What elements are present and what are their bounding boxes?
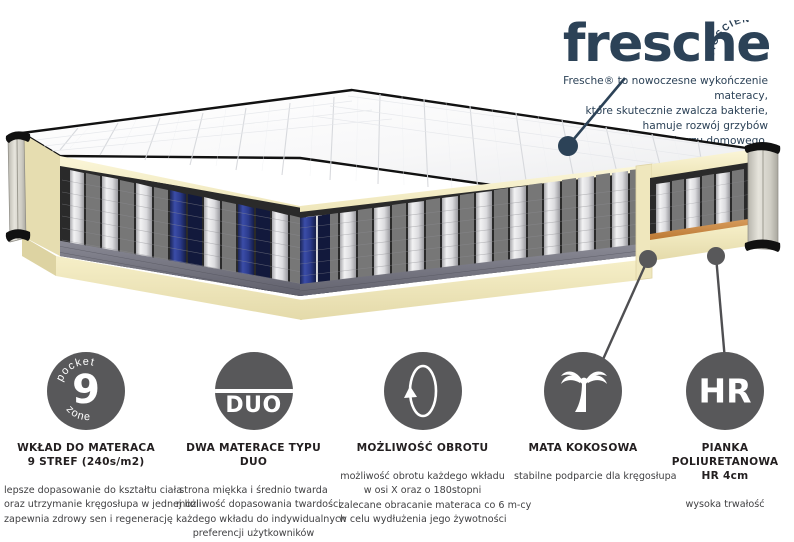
pocket-9-zone-icon: pocket zone 9: [47, 352, 125, 430]
feature-row: pocket zone 9 WKŁAD DO MATERACA 9 STREF …: [0, 352, 794, 542]
feature-hr-foam: HR PIANKA POLIURETANOWA HR 4cm wysoka tr…: [656, 352, 794, 512]
svg-text:BIOSCIENCE: BIOSCIENCE: [712, 20, 751, 58]
bioscience-label: BIOSCIENCE: [712, 20, 751, 58]
feature-title-coconut: MATA KOKOSOWA: [514, 442, 652, 456]
feature-pocket-9-zone: pocket zone 9 WKŁAD DO MATERACA 9 STREF …: [0, 352, 172, 527]
mattress-right-segment: [636, 150, 752, 280]
feature-title-rotation: MOŻLIWOŚĆ OBROTU: [339, 442, 506, 456]
feature-desc-line-4: preferencji użytkowników: [176, 527, 331, 541]
feature-desc-line-1: lepsze dopasowanie do kształtu ciała: [4, 484, 168, 498]
rotation-arrow-icon: [384, 352, 462, 430]
feature-desc-coconut: stabilne podparcie dla kręgosłupa: [514, 470, 652, 484]
mattress-right-side-panel: [745, 142, 781, 252]
duo-icon: DUO: [215, 352, 293, 430]
feature-desc-line-2: w osi X oraz o 180stopni: [339, 484, 506, 498]
feature-desc-line-2: oraz utrzymanie kręgosłupa w jednej lini…: [4, 498, 168, 512]
badge-zone-count: 9: [47, 370, 125, 410]
feature-desc-hr: wysoka trwałość: [660, 498, 790, 512]
feature-desc-duo: strona miękka i średnio twarda możliwość…: [176, 484, 331, 542]
palm-tree-icon: [544, 352, 622, 430]
feature-title-line-2: HR 4cm: [660, 470, 790, 484]
feature-desc-line-2: możliwość dopasowania twardości: [176, 498, 331, 512]
feature-title-pocket: WKŁAD DO MATERACA 9 STREF (240s/m2): [4, 442, 168, 470]
mattress-cutaway-illustration: [0, 88, 794, 330]
feature-desc-line-1: wysoka trwałość: [660, 498, 790, 512]
hr-label: HR: [686, 375, 764, 408]
feature-title-line-1: MOŻLIWOŚĆ OBROTU: [339, 442, 506, 456]
hr-foam-icon: HR: [686, 352, 764, 430]
feature-title-line-1: PIANKA POLIURETANOWA: [660, 442, 790, 470]
feature-desc-line-3: zalecane obracanie materaca co 6 m-cy: [339, 499, 506, 513]
feature-desc-line-3: każdego wkładu do indywidualnych: [176, 513, 331, 527]
feature-coconut-mat: MATA KOKOSOWA stabilne podparcie dla krę…: [510, 352, 656, 484]
feature-title-hr: PIANKA POLIURETANOWA HR 4cm: [660, 442, 790, 484]
feature-title-line-1: MATA KOKOSOWA: [514, 442, 652, 456]
feature-title-line-1: DWA MATERACE TYPU DUO: [176, 442, 331, 470]
feature-desc-line-1: możliwość obrotu każdego wkładu: [339, 470, 506, 484]
duo-label: DUO: [215, 395, 293, 417]
feature-desc-pocket: lepsze dopasowanie do kształtu ciała ora…: [4, 484, 168, 527]
duo-divider-line: [215, 389, 293, 393]
feature-desc-line-1: strona miękka i średnio twarda: [176, 484, 331, 498]
feature-rotation: MOŻLIWOŚĆ OBROTU możliwość obrotu każdeg…: [335, 352, 510, 528]
infographic-page: fresche BIOSCIENCE Fresche® to nowoczesn…: [0, 0, 794, 542]
feature-desc-line-4: w celu wydłużenia jego żywotności: [339, 513, 506, 527]
feature-desc-rotation: możliwość obrotu każdego wkładu w osi X …: [339, 470, 506, 528]
feature-desc-line-1: stabilne podparcie dla kręgosłupa: [514, 470, 652, 484]
feature-duo: DUO DWA MATERACE TYPU DUO strona miękka …: [172, 352, 335, 542]
feature-title-duo: DWA MATERACE TYPU DUO: [176, 442, 331, 470]
feature-title-line-1: WKŁAD DO MATERACA: [4, 442, 168, 456]
feature-title-line-2: 9 STREF (240s/m2): [4, 456, 168, 470]
feature-desc-line-3: zapewnia zdrowy sen i regenerację: [4, 513, 168, 527]
